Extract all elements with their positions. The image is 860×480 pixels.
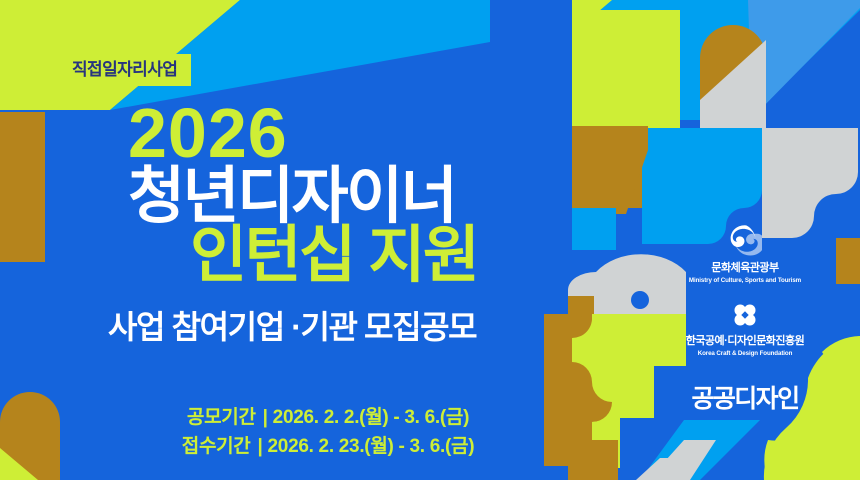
logo-foundation-name-ko: 한국공예·디자인문화진흥원: [630, 335, 860, 348]
schedule-block: 공모기간|2026. 2. 2.(월) - 3. 6.(금) 접수기간|2026…: [0, 404, 600, 461]
schedule-label: 공모기간: [187, 407, 256, 428]
schedule-row-submission: 접수기간|2026. 2. 23.(월) - 3. 6.(금): [56, 433, 600, 462]
schedule-separator: |: [263, 407, 268, 428]
schedule-row-application: 공모기간|2026. 2. 2.(월) - 3. 6.(금): [56, 404, 600, 433]
logo-ministry-name-ko: 문화체육관광부: [630, 262, 860, 275]
headline-tagline: 사업 참여기업 ·기관 모집공모: [0, 302, 600, 348]
logo-foundation-name-en: Korea Craft & Design Foundation: [630, 350, 860, 358]
headline-title-line2: 인턴십 지원: [0, 224, 600, 287]
program-category-badge: 직접일자리사업: [58, 54, 191, 86]
promotional-banner: 직접일자리사업 2026 청년디자이너 인턴십 지원 사업 참여기업 ·기관 모…: [0, 0, 860, 480]
schedule-period: 2026. 2. 2.(월) - 3. 6.(금): [273, 407, 469, 428]
schedule-period: 2026. 2. 23.(월) - 3. 6.(금): [268, 436, 475, 457]
logo-ministry: 문화체육관광부 Ministry of Culture, Sports and …: [630, 222, 860, 285]
schedule-label: 접수기간: [182, 436, 251, 457]
headline-year: 2026: [0, 100, 600, 167]
logo-public-design-wordmark: 공공디자인: [630, 387, 860, 412]
taegeuk-icon: [728, 222, 762, 256]
logo-foundation: 한국공예·디자인문화진흥원 Korea Craft & Design Found…: [630, 301, 860, 358]
logo-stack: 문화체육관광부 Ministry of Culture, Sports and …: [630, 222, 860, 412]
kcdf-flower-icon: [731, 301, 759, 329]
schedule-separator: |: [258, 436, 263, 457]
headline-title-line1: 청년디자이너: [0, 165, 600, 228]
headline-block: 2026 청년디자이너 인턴십 지원 사업 참여기업 ·기관 모집공모: [0, 100, 600, 348]
logo-ministry-name-en: Ministry of Culture, Sports and Tourism: [630, 277, 860, 285]
